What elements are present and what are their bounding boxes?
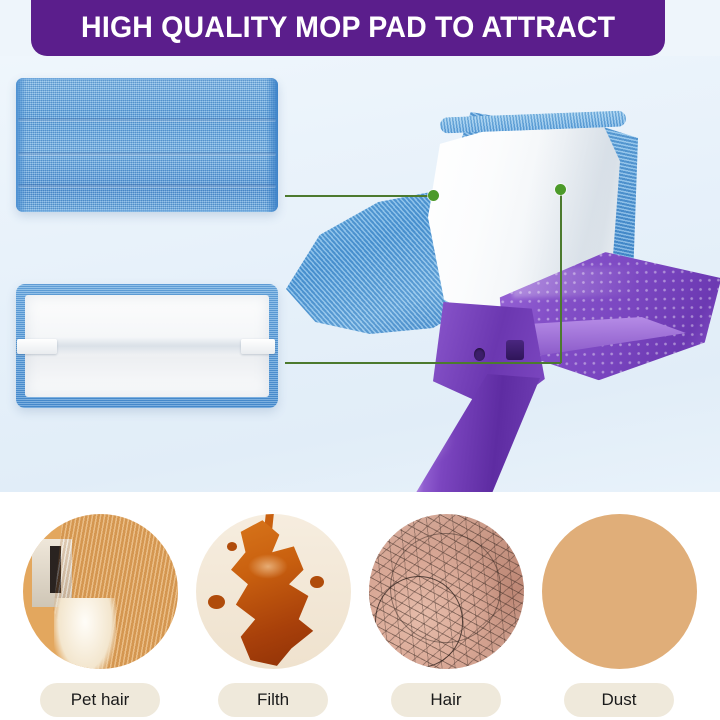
product-scene	[0, 56, 720, 492]
callout-line-vertical	[560, 190, 562, 363]
pad-white-center	[25, 295, 269, 397]
header-banner: HIGH QUALITY MOP PAD TO ATTRACT	[31, 0, 665, 56]
spill-droplet	[208, 595, 225, 609]
gallery-label-pill: Pet hair	[40, 683, 160, 717]
pad-center-band	[25, 337, 269, 355]
filth-texture	[196, 514, 351, 669]
neck-slot	[506, 340, 524, 360]
pad-fabric-tab	[241, 339, 275, 354]
pet-hair-icon	[23, 514, 178, 669]
gallery-label: Filth	[257, 690, 289, 710]
gallery-label: Pet hair	[71, 690, 130, 710]
callout-dot-blue-pad	[428, 190, 439, 201]
gallery-item-dust: Dust	[539, 514, 699, 717]
hair-texture	[369, 514, 524, 669]
pad-fabric-tab	[17, 339, 57, 354]
page-title: HIGH QUALITY MOP PAD TO ATTRACT	[81, 8, 615, 43]
gallery-label: Dust	[602, 690, 637, 710]
gallery-item-pet-hair: Pet hair	[20, 514, 180, 717]
blue-microfiber-pad	[16, 78, 278, 212]
spill-droplet	[310, 576, 324, 588]
gallery-label: Hair	[430, 690, 461, 710]
pad-seam	[18, 184, 276, 188]
mop-handle	[300, 374, 540, 492]
spill-droplet	[227, 542, 238, 551]
callout-line-blue-pad	[285, 195, 433, 197]
hair-icon	[369, 514, 524, 669]
pad-right-edge	[266, 78, 278, 212]
dog-chest-fur	[54, 598, 116, 669]
gallery-label-pill: Filth	[218, 683, 328, 717]
hair-loop	[390, 533, 501, 644]
neck-pivot-hole	[474, 348, 485, 361]
pad-seam	[18, 152, 276, 156]
pad-seam	[18, 118, 276, 122]
gallery-label-pill: Hair	[391, 683, 501, 717]
pad-left-edge	[16, 78, 26, 212]
infographic-page: HIGH QUALITY MOP PAD TO ATTRACT	[0, 0, 720, 720]
callout-dot-white-pad	[555, 184, 566, 195]
spill-highlight	[248, 554, 288, 579]
handle-specular-shine	[300, 374, 540, 492]
callout-line-white-pad	[285, 362, 561, 364]
dust-icon	[542, 514, 697, 669]
gallery-label-pill: Dust	[564, 683, 674, 717]
filth-icon	[196, 514, 351, 669]
pet-hair-texture	[23, 514, 178, 669]
dust-texture	[542, 514, 697, 669]
gallery-item-hair: Hair	[366, 514, 526, 717]
debris-gallery: Pet hair Filth	[0, 492, 720, 720]
white-faced-pad	[16, 284, 278, 408]
gallery-item-filth: Filth	[193, 514, 353, 717]
